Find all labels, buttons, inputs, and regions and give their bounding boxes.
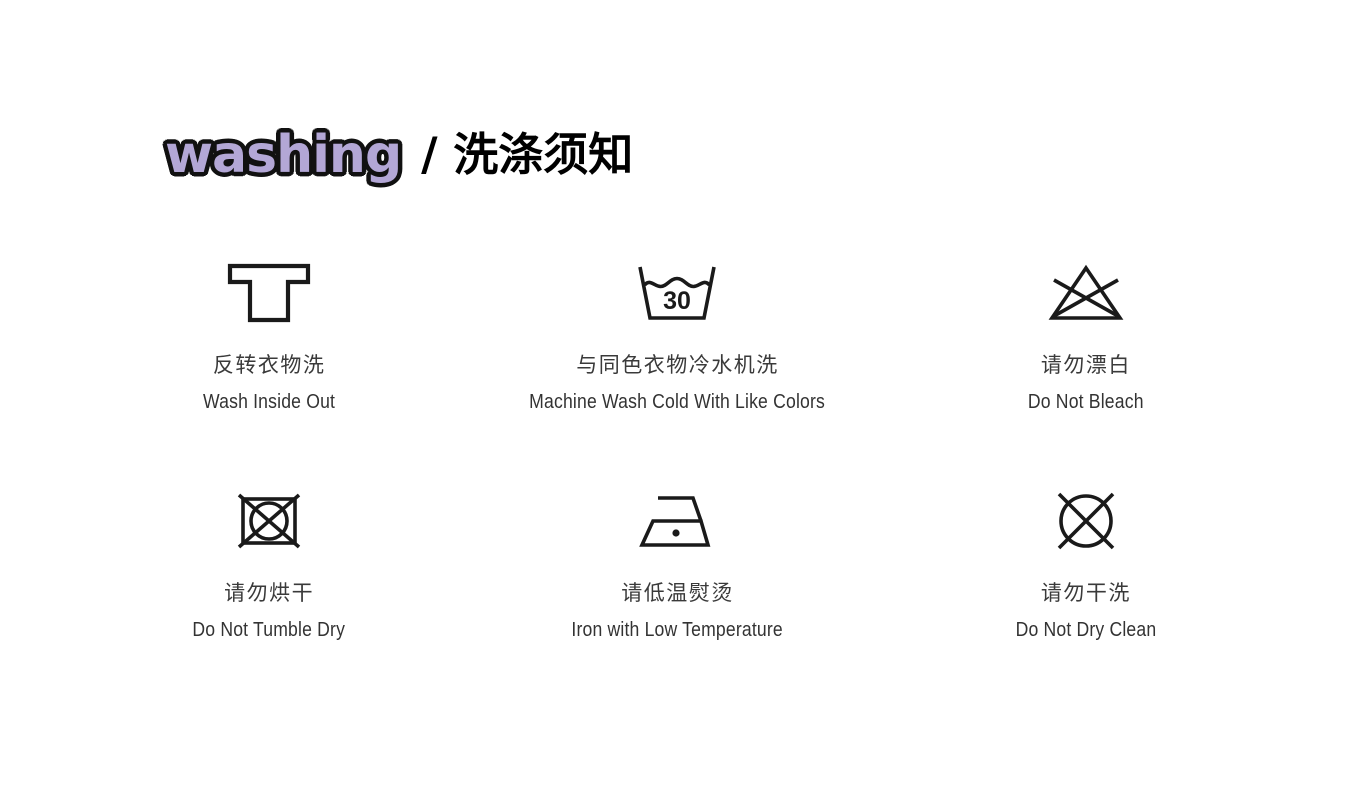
care-item-do-not-tumble-dry: 请勿烘干 Do Not Tumble Dry bbox=[65, 490, 473, 718]
care-label-english: Do Not Bleach bbox=[1028, 391, 1144, 413]
care-label-chinese: 与同色衣物冷水机洗 bbox=[576, 354, 779, 377]
care-label-chinese: 请勿干洗 bbox=[1041, 582, 1131, 605]
tshirt-icon bbox=[227, 262, 311, 324]
care-item-machine-wash-cold: 30 与同色衣物冷水机洗 Machine Wash Cold With Like… bbox=[473, 262, 881, 490]
care-symbol-grid: 反转衣物洗 Wash Inside Out 30 与同色衣物冷水机洗 Machi… bbox=[65, 262, 1290, 718]
do-not-tumble-dry-icon bbox=[235, 490, 303, 552]
care-label-english: Do Not Tumble Dry bbox=[193, 619, 346, 641]
care-label-chinese: 请低温熨烫 bbox=[621, 582, 734, 605]
care-label-chinese: 请勿烘干 bbox=[224, 582, 314, 605]
wash-tub-30-icon: 30 bbox=[637, 262, 717, 324]
care-item-iron-low-temperature: 请低温熨烫 Iron with Low Temperature bbox=[473, 490, 881, 718]
iron-dot-marker bbox=[673, 529, 680, 536]
care-label-english: Machine Wash Cold With Like Colors bbox=[530, 391, 826, 413]
care-item-do-not-dry-clean: 请勿干洗 Do Not Dry Clean bbox=[882, 490, 1290, 718]
care-item-do-not-bleach: 请勿漂白 Do Not Bleach bbox=[882, 262, 1290, 490]
do-not-dry-clean-icon bbox=[1054, 490, 1118, 552]
care-label-english: Do Not Dry Clean bbox=[1015, 619, 1156, 641]
care-label-english: Wash Inside Out bbox=[203, 391, 335, 413]
care-label-chinese: 请勿漂白 bbox=[1041, 354, 1131, 377]
do-not-bleach-triangle-icon bbox=[1046, 262, 1126, 324]
care-item-wash-inside-out: 反转衣物洗 Wash Inside Out bbox=[65, 262, 473, 490]
page-title: washing / 洗涤须知 bbox=[165, 118, 633, 183]
iron-one-dot-icon bbox=[636, 490, 718, 552]
care-label-chinese: 反转衣物洗 bbox=[213, 354, 326, 377]
wash-temperature-value: 30 bbox=[664, 287, 692, 315]
washing-care-instructions-page: washing / 洗涤须知 反转衣物洗 Wash Inside Out 30 bbox=[0, 0, 1355, 793]
page-title-chinese: / 洗涤须知 bbox=[421, 118, 633, 183]
page-title-english: washing bbox=[165, 125, 401, 185]
care-label-english: Iron with Low Temperature bbox=[572, 619, 783, 641]
